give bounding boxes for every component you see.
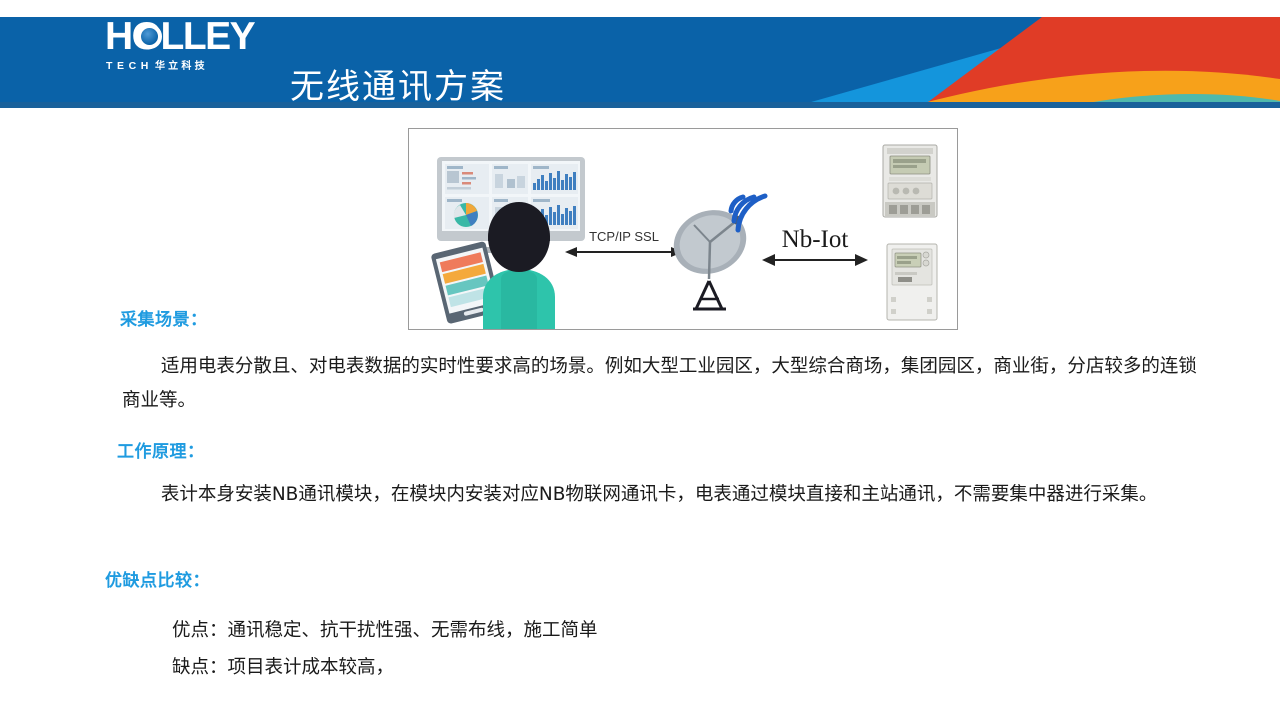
holley-logo: HOLLEY TECH 华立科技 [105,17,265,75]
header-banner: HOLLEY TECH 华立科技 无线通讯方案 [0,17,1280,108]
link-label-nbiot: Nb-Iot [782,226,849,253]
section-heading-theory: 工作原理： [117,437,205,462]
section-heading-scene: 采集场景： [120,305,208,330]
logo-o-ring-icon [137,24,162,49]
logo-wordmark-text: HOLLEY [105,17,254,58]
cons-line: 缺点：项目表计成本较高， [172,649,1172,686]
diagram-container: TCP/IP SSL [408,128,958,330]
logo-wordmark: HOLLEY [105,17,254,57]
arrow-head-right-2 [855,254,868,266]
page-title: 无线通讯方案 [290,65,506,108]
arrow-head-left-2 [762,254,775,266]
section-paragraph-scene: 适用电表分散且、对电表数据的实时性要求高的场景。例如大型工业园区，大型综合商场，… [122,350,1200,418]
section-heading-compare: 优缺点比较： [105,566,210,591]
workstation-group [431,157,585,329]
logo-subtitle-cn: 华立科技 [155,57,208,72]
arrow-head-left-1 [565,247,577,257]
electricity-meter-bottom [887,244,937,320]
section-paragraph-theory: 表计本身安装NB通讯模块，在模块内安装对应NB物联网通讯卡，电表通过模块直接和主… [122,478,1204,512]
paragraph-text-scene: 适用电表分散且、对电表数据的实时性要求高的场景。例如大型工业园区，大型综合商场，… [122,356,1197,411]
link-label-tcpip: TCP/IP SSL [589,229,659,244]
topology-diagram: TCP/IP SSL [409,129,957,329]
logo-subtitle-en: TECH [106,60,153,72]
slide-canvas: HOLLEY TECH 华立科技 无线通讯方案 [0,0,1280,720]
electricity-meter-top [883,145,937,217]
paragraph-text-theory: 表计本身安装NB通讯模块，在模块内安装对应NB物联网通讯卡，电表通过模块直接和主… [122,484,1157,505]
satellite-dish-antenna [664,196,765,309]
section-paragraph-compare: 优点：通讯稳定、抗干扰性强、无需布线，施工简单 缺点：项目表计成本较高， [172,612,1172,686]
logo-subtitle: TECH 华立科技 [106,57,264,72]
operator-figure [483,202,555,329]
header-underline [0,102,1280,108]
pros-line: 优点：通讯稳定、抗干扰性强、无需布线，施工简单 [172,612,1172,649]
